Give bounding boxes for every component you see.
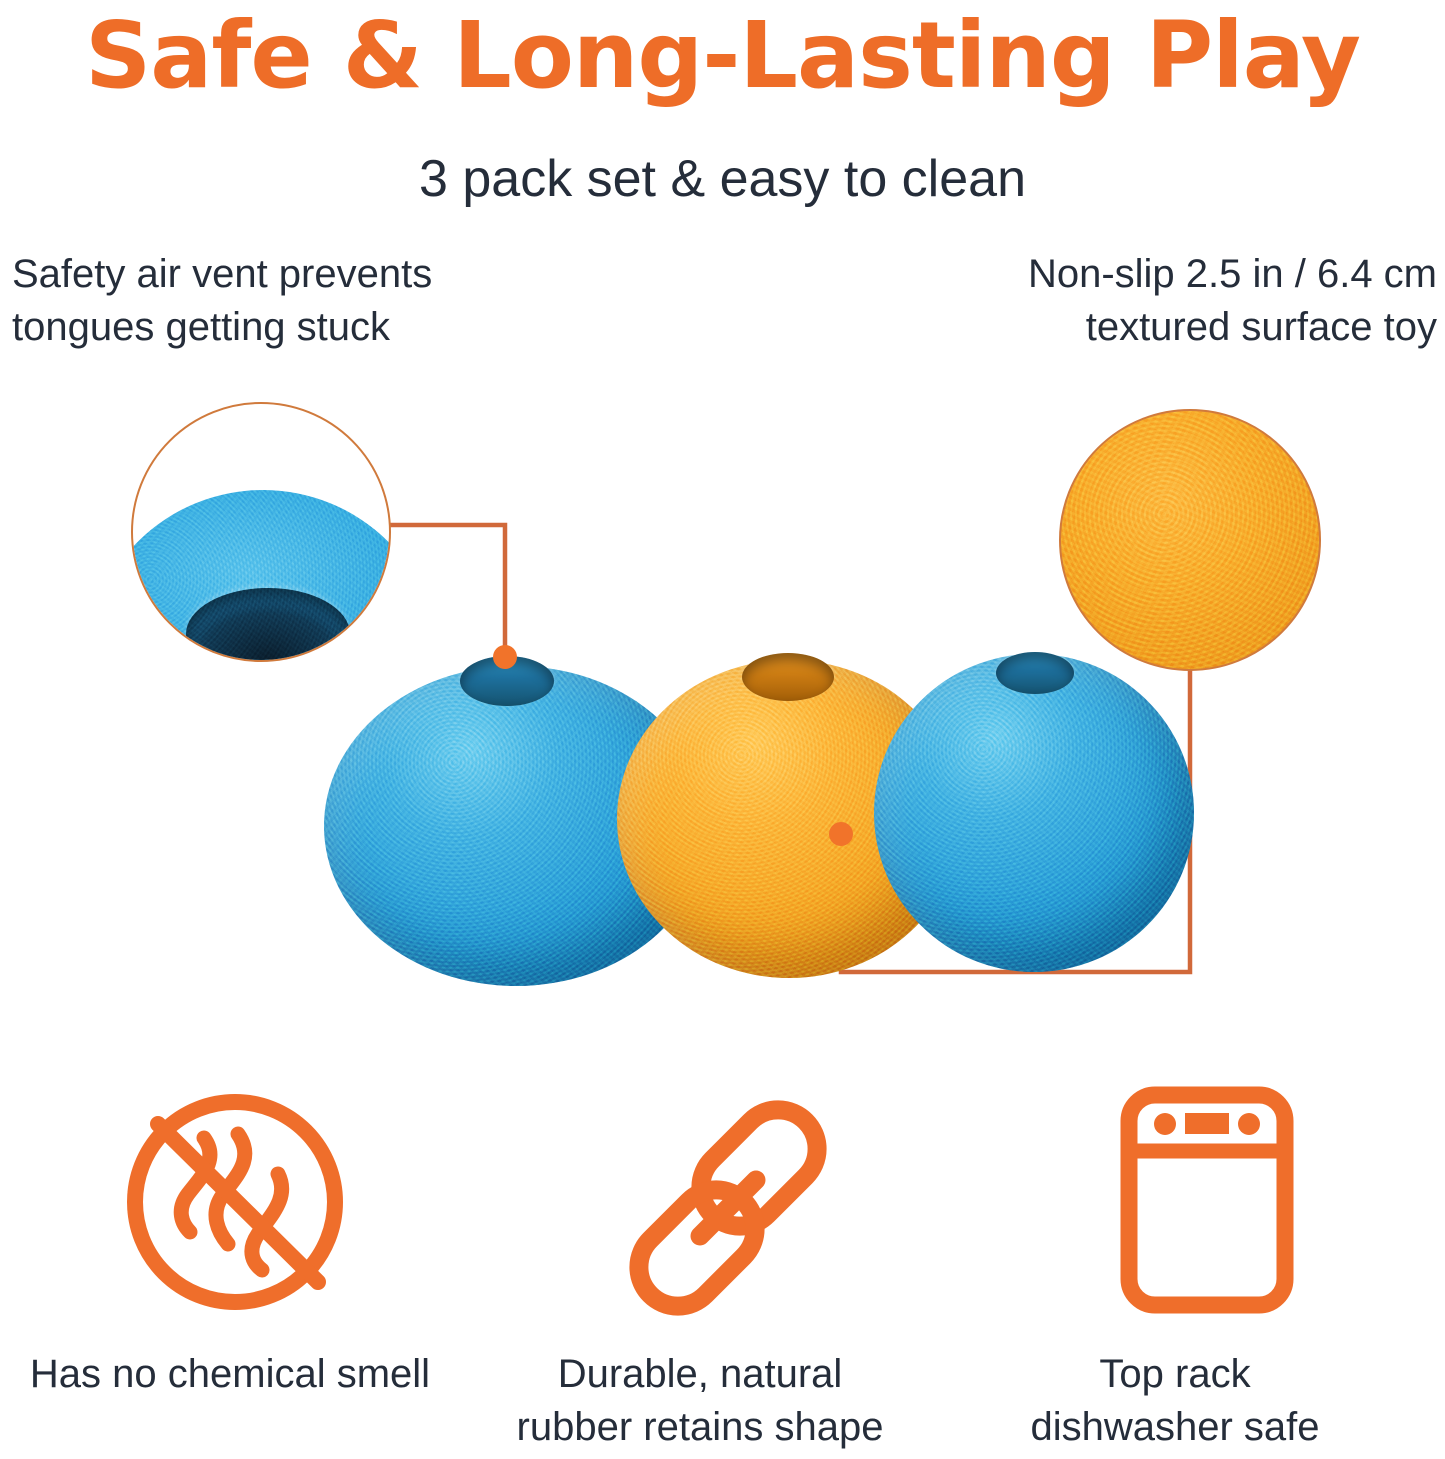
callout-circle-air-vent: [131, 402, 391, 662]
feature-label-durable: Durable, natural rubber retains shape: [460, 1348, 940, 1454]
caption-textured-surface: Non-slip 2.5 in / 6.4 cm textured surfac…: [817, 248, 1437, 354]
feature-label-no-smell: Has no chemical smell: [0, 1348, 460, 1401]
feature-label-durable-line2: rubber retains shape: [460, 1401, 940, 1454]
ball-texture-overlay: [874, 654, 1194, 972]
caption-air-vent: Safety air vent prevents tongues getting…: [12, 248, 632, 354]
page-title: Safe & Long-Lasting Play: [0, 4, 1445, 108]
air-vent-hole: [186, 588, 350, 662]
dishwasher-icon: [1119, 1085, 1295, 1315]
caption-textured-surface-line2: textured surface toy: [817, 301, 1437, 354]
callout-circle-textured-surface: [1059, 409, 1321, 671]
air-vent-closeup-image: [131, 490, 391, 662]
feature-label-durable-line1: Durable, natural: [460, 1348, 940, 1401]
ball-blue-right: [874, 654, 1194, 972]
ball-blue-left-vent-hole: [460, 656, 554, 706]
caption-textured-surface-line1: Non-slip 2.5 in / 6.4 cm: [817, 248, 1437, 301]
air-vent-hole-rim: [175, 578, 361, 662]
ball-blue-right-vent-hole: [996, 652, 1074, 694]
feature-label-dishwasher-line1: Top rack: [940, 1348, 1410, 1401]
feature-label-no-smell-line1: Has no chemical smell: [0, 1348, 460, 1401]
page-subtitle: 3 pack set & easy to clean: [0, 148, 1445, 210]
chain-link-icon: [612, 1092, 844, 1324]
feature-label-dishwasher-line2: dishwasher safe: [940, 1401, 1410, 1454]
caption-air-vent-line2: tongues getting stuck: [12, 301, 632, 354]
infographic-canvas: Safe & Long-Lasting Play 3 pack set & ea…: [0, 0, 1445, 1459]
no-smell-icon: [110, 1082, 360, 1322]
caption-air-vent-line1: Safety air vent prevents: [12, 248, 632, 301]
connector-line-air-vent: [389, 525, 505, 653]
feature-label-dishwasher: Top rack dishwasher safe: [940, 1348, 1410, 1454]
ball-orange-center-vent-hole: [742, 653, 834, 701]
